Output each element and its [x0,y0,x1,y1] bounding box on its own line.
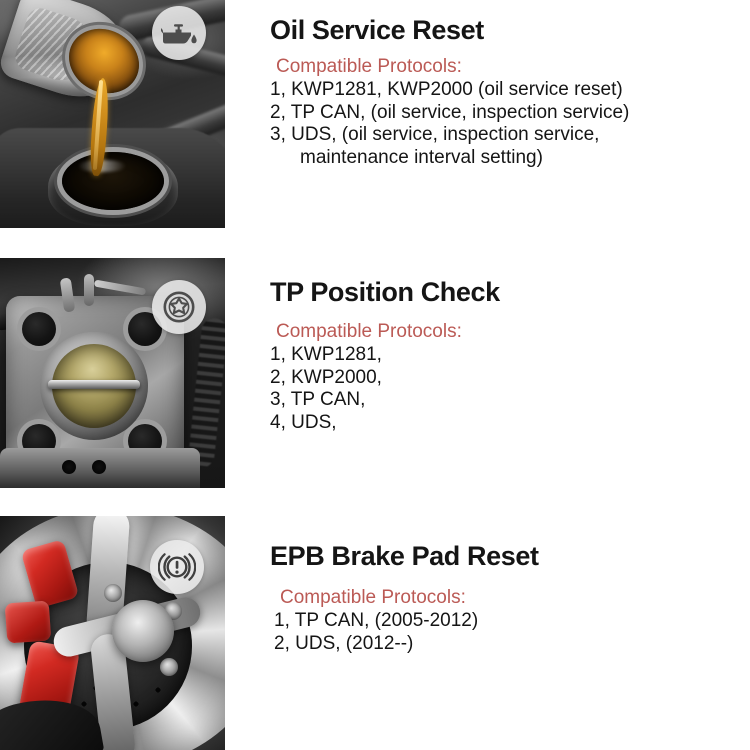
protocol-line: 1, KWP1281, [270,344,740,367]
photo-brake-caliper-wheel [0,516,225,750]
feature-title-tp: TP Position Check [270,278,740,306]
protocols-label-tp: Compatible Protocols: [270,320,740,343]
protocol-line: maintenance interval setting) [270,147,740,170]
feature-tp-position-check: TP Position Check Compatible Protocols: … [0,258,750,488]
oil-can-icon [152,6,206,60]
protocol-line: 2, UDS, (2012--) [270,633,740,656]
text-column-tp: TP Position Check Compatible Protocols: … [270,258,740,488]
photo-engine-oil-pouring [0,0,225,228]
throttle-body-icon [152,280,206,334]
photo-throttle-body [0,258,225,488]
feature-epb-brake-pad-reset: EPB Brake Pad Reset Compatible Protocols… [0,516,750,750]
protocol-line: 2, KWP2000, [270,367,740,390]
protocol-line: 1, TP CAN, (2005-2012) [270,610,740,633]
protocol-line: 2, TP CAN, (oil service, inspection serv… [270,102,740,125]
protocols-list-tp: 1, KWP1281, 2, KWP2000, 3, TP CAN, 4, UD… [270,344,740,434]
protocols-label-epb: Compatible Protocols: [270,586,740,609]
protocol-line: 4, UDS, [270,412,740,435]
protocol-line: 1, KWP1281, KWP2000 (oil service reset) [270,79,740,102]
protocols-list-epb: 1, TP CAN, (2005-2012) 2, UDS, (2012--) [270,610,740,655]
feature-oil-service-reset: Oil Service Reset Compatible Protocols: … [0,0,750,228]
protocols-label-oil: Compatible Protocols: [270,55,740,78]
protocols-list-oil: 1, KWP1281, KWP2000 (oil service reset) … [270,79,740,169]
text-column-epb: EPB Brake Pad Reset Compatible Protocols… [270,516,740,750]
feature-title-epb: EPB Brake Pad Reset [270,542,740,570]
protocol-line: 3, TP CAN, [270,389,740,412]
protocol-line: 3, UDS, (oil service, inspection service… [270,124,740,147]
brake-warning-icon [150,540,204,594]
feature-title-oil: Oil Service Reset [270,16,740,44]
product-feature-page: Oil Service Reset Compatible Protocols: … [0,0,750,750]
text-column-oil: Oil Service Reset Compatible Protocols: … [270,0,740,228]
